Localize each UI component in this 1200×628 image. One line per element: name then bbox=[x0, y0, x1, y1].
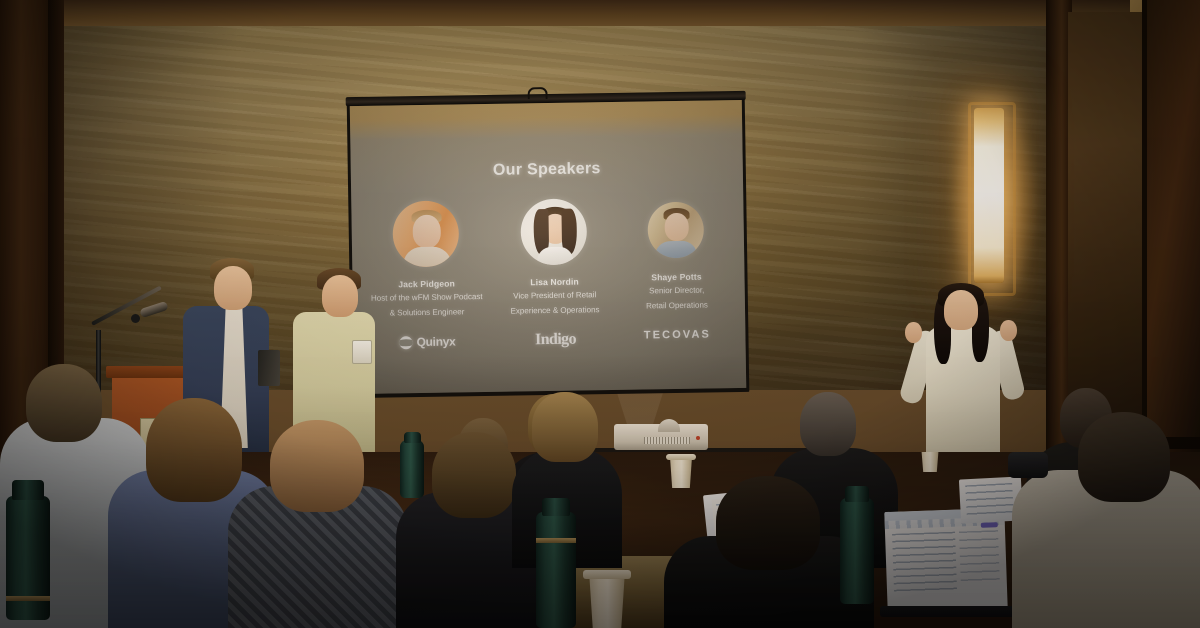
ceiling bbox=[0, 0, 1200, 26]
laptop-screen[interactable] bbox=[884, 508, 1007, 612]
screen-hook bbox=[528, 87, 548, 99]
projector-led-icon bbox=[696, 436, 700, 440]
wood-panel-far-right bbox=[1146, 0, 1200, 470]
coffee-cup-lid bbox=[583, 570, 631, 579]
water-bottle-band bbox=[6, 596, 50, 601]
audience-member-head bbox=[432, 432, 516, 518]
presenter-pale-shirt-head bbox=[322, 275, 358, 317]
laptop-side-panel bbox=[959, 530, 999, 581]
presenter-notebook bbox=[258, 350, 280, 386]
water-bottle-band bbox=[536, 538, 576, 543]
audience-member-head bbox=[532, 392, 598, 462]
laptop-base bbox=[880, 606, 1016, 617]
speaker-right-hand bbox=[1000, 320, 1017, 341]
wall-seam bbox=[1142, 0, 1147, 460]
water-bottle-small[interactable] bbox=[400, 440, 424, 498]
coffee-cup[interactable] bbox=[668, 458, 694, 488]
projector-vents bbox=[644, 437, 690, 444]
laptop-accent-button[interactable] bbox=[981, 522, 998, 528]
water-bottle[interactable] bbox=[536, 512, 576, 628]
laptop-document-text bbox=[892, 532, 957, 596]
name-badge bbox=[352, 340, 372, 364]
microphone-joint bbox=[131, 314, 140, 323]
coffee-cup[interactable] bbox=[586, 576, 628, 628]
audience-member-head bbox=[270, 420, 364, 512]
audience-member-head bbox=[146, 398, 242, 502]
water-bottle-cap bbox=[404, 432, 421, 443]
coffee-cup-lid bbox=[666, 454, 696, 460]
screen-vignette bbox=[350, 100, 746, 394]
water-bottle[interactable] bbox=[840, 498, 874, 604]
coffee-cup-small[interactable] bbox=[920, 452, 940, 472]
audience-member-head bbox=[1078, 412, 1170, 502]
audience-member-head bbox=[26, 364, 102, 442]
conference-room-photo: Our Speakers Jack Pidgeon Host of the wF… bbox=[0, 0, 1200, 628]
water-bottle-cap bbox=[12, 480, 44, 500]
water-bottle[interactable] bbox=[6, 496, 50, 620]
audience-member-head bbox=[800, 392, 856, 456]
presenter-navy-blazer-head bbox=[214, 266, 252, 310]
wall-sconce-light bbox=[974, 108, 1004, 283]
water-bottle-cap bbox=[845, 486, 869, 502]
speaker-left-hand bbox=[905, 322, 922, 343]
water-bottle-cap bbox=[542, 498, 570, 516]
audience-member-head bbox=[716, 476, 820, 570]
screen-surface: Our Speakers Jack Pidgeon Host of the wF… bbox=[350, 100, 746, 394]
wristwatch bbox=[1008, 452, 1048, 478]
laptop-text-lines bbox=[965, 483, 1014, 516]
projection-screen: Our Speakers Jack Pidgeon Host of the wF… bbox=[350, 93, 747, 399]
speaker-woman-head bbox=[944, 290, 978, 330]
